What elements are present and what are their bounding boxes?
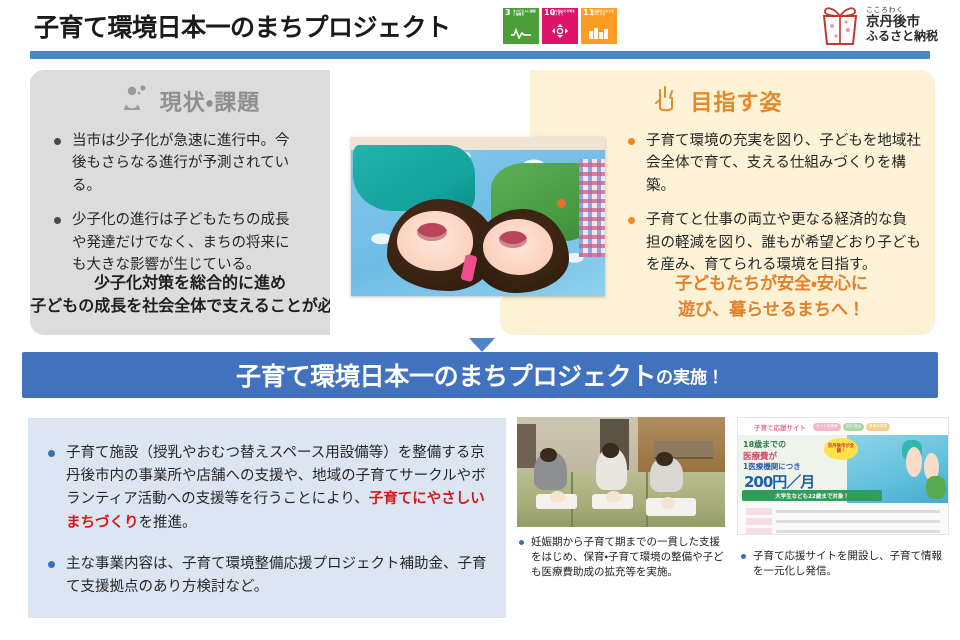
class-photo-baby <box>606 491 621 503</box>
site-hero-badge: 京丹後市が全額！ <box>824 438 858 460</box>
pointing-hand-icon <box>652 84 680 118</box>
list-item <box>746 508 940 515</box>
current-situation-bullets: 当市は少子化が急速に進行中。今後もさらなる進行が予測されている。 少子化の進行は… <box>48 130 300 277</box>
sdg-icon-row: 3 すべての人に健康と福祉を 10 人や国の不平等をなくそう 1 <box>503 8 617 44</box>
furusato-program: ふるさと納税 <box>866 30 938 43</box>
measure-2-pre: 主な事業内容は、子育て環境整備応援プロジェクト補助金、子育て支援拠点のあり方検討… <box>66 556 487 595</box>
website-caption: 子育て応援サイトを開設し、子育て情報を一元化し発信。 <box>741 549 949 579</box>
caption-list: 妊娠期から子育て期までの一貫した支援をはじめ、保育・子育て環境の整備や子ども医療… <box>519 535 724 581</box>
site-logo-text: 子育て応援サイト <box>754 422 806 432</box>
site-news-line <box>776 530 940 533</box>
site-hero-child-face <box>906 447 922 477</box>
photo-child-left-face <box>397 211 473 271</box>
site-header-bar: 子育て応援サイト サイト内検索 文字 拡大 背景色変更 <box>738 418 948 435</box>
site-hero-price: 200円／月 <box>744 471 814 492</box>
closing-line-2: 遊び、暮らせるまちへ！ <box>618 298 925 324</box>
list-item: 当市は少子化が急速に進行中。今後もさらなる進行が予測されている。 <box>48 130 300 197</box>
title-divider-rule <box>30 51 930 59</box>
baby-class-photo <box>517 417 725 527</box>
children-lying-photo <box>351 137 605 296</box>
project-banner: 子育て環境日本一のまちプロジェクト の実施！ <box>22 352 938 398</box>
sdg-3-caption: すべての人に健康と福祉を <box>513 10 537 17</box>
vision-header: 目指す姿 <box>500 70 935 118</box>
site-hero-child-green <box>926 476 946 499</box>
photo-child-left-mouth <box>417 223 447 241</box>
furusato-text: こころわく 京丹後市 ふるさと納税 <box>866 7 938 43</box>
equality-icon <box>542 23 578 42</box>
vision-heading: 目指す姿 <box>690 85 782 117</box>
list-item: 子育て環境の充実を図り、子どもを地域社会全体で育て、支える仕組みづくりを構築。 <box>622 130 921 197</box>
list-item: 主な事業内容は、子育て環境整備応援プロジェクト補助金、子育て支援拠点のあり方検討… <box>42 553 490 599</box>
site-nav: サイト内検索 文字 拡大 背景色変更 <box>813 423 890 431</box>
site-nav-item-search: サイト内検索 <box>813 423 841 431</box>
vision-bullets: 子育て環境の充実を図り、子どもを地域社会全体で育て、支える仕組みづくりを構築。 … <box>622 130 921 277</box>
city-icon <box>581 26 617 42</box>
list-item: 妊娠期から子育て期までの一貫した支援をはじめ、保育・子育て環境の整備や子ども医療… <box>519 535 724 581</box>
list-item: 少子化の進行は子どもたちの成長や発達だけでなく、まちの将来にも大きな影響が生じて… <box>48 209 300 276</box>
gift-box-icon <box>820 4 860 46</box>
sdg-3-number: 3 <box>505 9 511 17</box>
caption-list: 子育て応援サイトを開設し、子育て情報を一元化し発信。 <box>741 549 949 579</box>
site-nav-item-textsize: 文字 拡大 <box>843 423 865 431</box>
measures-panel: 子育て施設（授乳やおむつ替えスペース用設備等）を整備する京丹後市内の事業所や店舗… <box>28 418 506 618</box>
measures-bullets: 子育て施設（授乳やおむつ替えスペース用設備等）を整備する京丹後市内の事業所や店舗… <box>42 442 490 599</box>
list-item <box>746 518 940 525</box>
photo-child-right-mouth <box>499 231 527 248</box>
class-photo-parent-head <box>540 448 557 462</box>
measure-1-post: を推進。 <box>139 515 197 531</box>
photo-small-toy <box>557 199 566 208</box>
sdg-11-caption: 住み続けられるまちづくりを <box>591 10 615 17</box>
closing-line-2: 子どもの成長を社会全体で支えることが必要 <box>30 294 350 317</box>
sdg-goal-3-icon: 3 すべての人に健康と福祉を <box>503 8 539 44</box>
current-situation-heading: 現状・課題 <box>160 85 260 117</box>
slide-root: 子育て環境日本一のまちプロジェクト 3 すべての人に健康と福祉を 10 人や国の… <box>0 0 960 640</box>
list-item: 子育てと仕事の両立や更なる経済的な負担の軽減を図り、誰もが希望どおり子どもを産み… <box>622 209 921 276</box>
site-hero-line1: 18歳までの <box>743 439 786 450</box>
slide-header: 子育て環境日本一のまちプロジェクト 3 すべての人に健康と福祉を 10 人や国の… <box>0 0 960 52</box>
banner-main-text: 子育て環境日本一のまちプロジェクト <box>236 357 656 393</box>
furusato-city: 京丹後市 <box>866 15 938 30</box>
closing-line-1: 子どもたちが安全・安心に <box>618 272 925 298</box>
list-item: 子育て応援サイトを開設し、子育て情報を一元化し発信。 <box>741 549 949 579</box>
heartbeat-icon <box>503 27 539 42</box>
banner-suffix-text: の実施！ <box>656 363 724 388</box>
photo-plaid-cushion <box>579 159 605 257</box>
site-news-label <box>746 508 772 515</box>
sdg-goal-10-icon: 10 人や国の不平等をなくそう <box>542 8 578 44</box>
list-item <box>746 528 940 535</box>
furusato-logo: こころわく 京丹後市 ふるさと納税 <box>820 4 938 46</box>
class-photo-baby <box>550 491 565 503</box>
current-situation-panel: 現状・課題 当市は少子化が急速に進行中。今後もさらなる進行が予測されている。 少… <box>30 70 350 335</box>
current-situation-closing: 少子化対策を総合的に進め 子どもの成長を社会全体で支えることが必要 <box>30 271 350 317</box>
site-news-label <box>746 528 772 535</box>
class-photo-shelf <box>517 424 536 468</box>
site-news-line <box>776 510 940 513</box>
down-arrow-icon <box>469 338 495 352</box>
person-thinking-icon <box>120 84 150 118</box>
sdg-10-caption: 人や国の不平等をなくそう <box>552 10 576 17</box>
site-hero-ribbon: 大学生なども22歳まで対象！ <box>742 490 882 501</box>
site-news-label <box>746 518 772 525</box>
list-item: 子育て施設（授乳やおむつ替えスペース用設備等）を整備する京丹後市内の事業所や店舗… <box>42 442 490 535</box>
site-nav-item-bgcolor: 背景色変更 <box>866 423 890 431</box>
site-news-list <box>738 504 948 534</box>
class-photo-parent-head <box>602 443 619 457</box>
page-title: 子育て環境日本一のまちプロジェクト <box>34 8 451 44</box>
support-website-screenshot: 子育て応援サイト サイト内検索 文字 拡大 背景色変更 18歳までの 医療費が … <box>737 417 949 535</box>
right-edge-margin <box>950 0 960 640</box>
baby-class-caption: 妊娠期から子育て期までの一貫した支援をはじめ、保育・子育て環境の整備や子ども医療… <box>519 535 724 581</box>
closing-line-1: 少子化対策を総合的に進め <box>30 271 350 294</box>
sdg-goal-11-icon: 11 住み続けられるまちづくりを <box>581 8 617 44</box>
site-news-line <box>776 520 940 523</box>
vision-closing: 子どもたちが安全・安心に 遊び、暮らせるまちへ！ <box>618 272 925 323</box>
current-situation-header: 現状・課題 <box>30 70 350 118</box>
